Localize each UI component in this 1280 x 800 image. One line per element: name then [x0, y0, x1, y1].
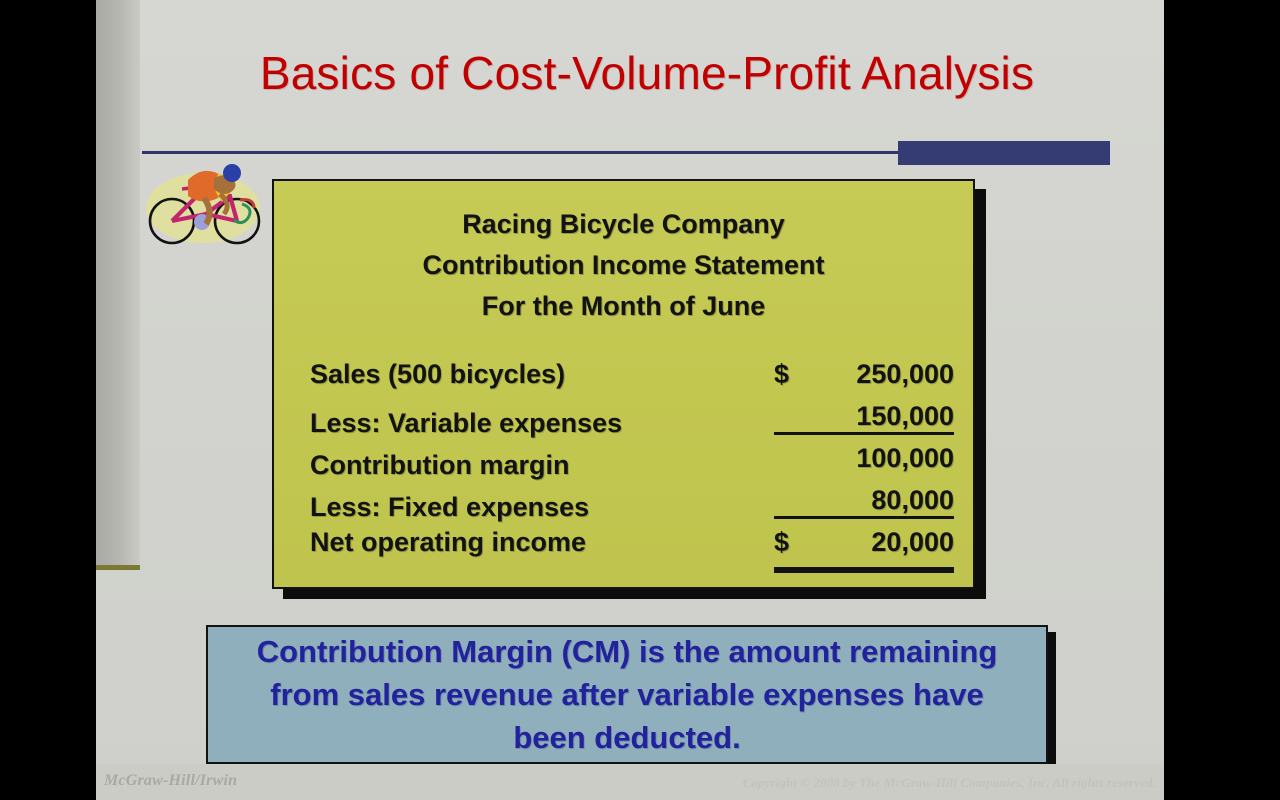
table-row: Contribution margin 100,000: [310, 443, 954, 485]
page-title: Basics of Cost-Volume-Profit Analysis: [142, 46, 1152, 100]
row-label-net-operating-income: Net operating income: [310, 527, 774, 558]
statement-heading-line-2: Contribution Income Statement: [274, 245, 973, 286]
row-amount-variable-expenses: 150,000: [774, 401, 954, 432]
row-amount-contribution-margin: 100,000: [774, 443, 954, 474]
currency-symbol: [774, 485, 796, 516]
row-label-sales: Sales (500 bicycles): [310, 359, 774, 390]
cyclist-clipart-icon: [144, 158, 262, 258]
row-label-variable-expenses: Less: Variable expenses: [310, 408, 774, 439]
left-decorative-bar-foot: [96, 565, 140, 570]
contribution-margin-callout: Contribution Margin (CM) is the amount r…: [206, 625, 1048, 764]
slide-stage: Basics of Cost-Volume-Profit Analysis: [0, 0, 1280, 800]
table-row: Sales (500 bicycles) $ 250,000: [310, 359, 954, 401]
title-accent-block: [898, 141, 1110, 165]
amount-value: 250,000: [796, 359, 954, 390]
row-label-fixed-expenses: Less: Fixed expenses: [310, 492, 774, 523]
table-row: Net operating income $ 20,000: [310, 527, 954, 569]
table-row: Less: Variable expenses 150,000: [310, 401, 954, 443]
currency-symbol: [774, 443, 796, 474]
slide-canvas: Basics of Cost-Volume-Profit Analysis: [96, 0, 1164, 800]
left-decorative-bar: [96, 0, 140, 565]
currency-symbol: [774, 401, 796, 432]
row-amount-sales: $ 250,000: [774, 359, 954, 390]
statement-heading-line-1: Racing Bicycle Company: [274, 204, 973, 245]
income-statement-rows: Sales (500 bicycles) $ 250,000 Less: Var…: [274, 359, 973, 569]
table-row: Less: Fixed expenses 80,000: [310, 485, 954, 527]
currency-symbol: $: [774, 527, 796, 558]
income-statement-heading: Racing Bicycle Company Contribution Inco…: [274, 204, 973, 327]
footer-copyright: Copyright © 2008 by The McGraw-Hill Comp…: [743, 775, 1156, 791]
amount-value: 150,000: [796, 401, 954, 432]
currency-symbol: $: [774, 359, 796, 390]
statement-heading-line-3: For the Month of June: [274, 286, 973, 327]
row-amount-fixed-expenses: 80,000: [774, 485, 954, 516]
footer-imprint: McGraw-Hill/Irwin: [104, 772, 237, 790]
amount-value: 100,000: [796, 443, 954, 474]
footer-bar: McGraw-Hill/Irwin Copyright © 2008 by Th…: [96, 764, 1164, 800]
amount-value: 80,000: [796, 485, 954, 516]
row-label-contribution-margin: Contribution margin: [310, 450, 774, 481]
income-statement-card: Racing Bicycle Company Contribution Inco…: [272, 179, 975, 589]
amount-value: 20,000: [796, 527, 954, 558]
callout-text: Contribution Margin (CM) is the amount r…: [208, 630, 1046, 759]
row-amount-net-operating-income: $ 20,000: [774, 527, 954, 558]
